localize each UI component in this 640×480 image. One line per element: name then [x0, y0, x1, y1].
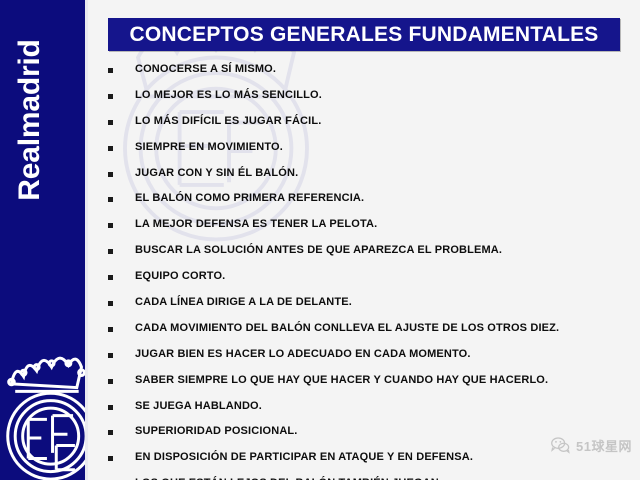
list-item-label: EQUIPO CORTO.: [135, 269, 628, 283]
square-bullet-icon: [108, 249, 113, 254]
sidebar-brand-label: Realmadrid: [2, 20, 58, 220]
list-item: CADA LÍNEA DIRIGE A LA DE DELANTE.: [108, 295, 628, 321]
list-item: LO MEJOR ES LO MÁS SENCILLO.: [108, 88, 628, 114]
list-item: EQUIPO CORTO.: [108, 269, 628, 295]
list-item-label: JUGAR CON Y SIN ÉL BALÓN.: [135, 166, 628, 180]
list-item: LO MÁS DIFÍCIL ES JUGAR FÁCIL.: [108, 114, 628, 140]
list-item-label: LO MEJOR ES LO MÁS SENCILLO.: [135, 88, 628, 102]
list-item-label: JUGAR BIEN ES HACER LO ADECUADO EN CADA …: [135, 347, 628, 361]
list-item: SE JUEGA HABLANDO.: [108, 399, 628, 425]
real-madrid-crest-icon: [4, 334, 85, 480]
sidebar: Realmadrid: [0, 0, 85, 480]
list-item: JUGAR CON Y SIN ÉL BALÓN.: [108, 166, 628, 192]
list-item: EL BALÓN COMO PRIMERA REFERENCIA.: [108, 191, 628, 217]
list-item-label: CADA MOVIMIENTO DEL BALÓN CONLLEVA EL AJ…: [135, 321, 628, 335]
square-bullet-icon: [108, 430, 113, 435]
list-item: EN DISPOSICIÓN DE PARTICIPAR EN ATAQUE Y…: [108, 450, 628, 476]
square-bullet-icon: [108, 223, 113, 228]
square-bullet-icon: [108, 301, 113, 306]
list-item: SABER SIEMPRE LO QUE HAY QUE HACER Y CUA…: [108, 373, 628, 399]
square-bullet-icon: [108, 197, 113, 202]
square-bullet-icon: [108, 405, 113, 410]
square-bullet-icon: [108, 68, 113, 73]
list-item-label: SE JUEGA HABLANDO.: [135, 399, 628, 413]
list-item: BUSCAR LA SOLUCIÓN ANTES DE QUE APAREZCA…: [108, 243, 628, 269]
list-item-label: SUPERIORIDAD POSICIONAL.: [135, 424, 628, 438]
slide-title-banner: CONCEPTOS GENERALES FUNDAMENTALES: [108, 18, 620, 51]
content-left-edge: [85, 0, 88, 480]
list-item: CONOCERSE A SÍ MISMO.: [108, 62, 628, 88]
list-item-label: EN DISPOSICIÓN DE PARTICIPAR EN ATAQUE Y…: [135, 450, 628, 464]
list-item-label: CONOCERSE A SÍ MISMO.: [135, 62, 628, 76]
list-item: SUPERIORIDAD POSICIONAL.: [108, 424, 628, 450]
list-item-label: EL BALÓN COMO PRIMERA REFERENCIA.: [135, 191, 628, 205]
list-item-label: CADA LÍNEA DIRIGE A LA DE DELANTE.: [135, 295, 628, 309]
square-bullet-icon: [108, 456, 113, 461]
page-title: CONCEPTOS GENERALES FUNDAMENTALES: [129, 24, 598, 45]
list-item-label: SIEMPRE EN MOVIMIENTO.: [135, 140, 628, 154]
square-bullet-icon: [108, 353, 113, 358]
square-bullet-icon: [108, 146, 113, 151]
slide-canvas: Realmadrid: [0, 0, 640, 480]
square-bullet-icon: [108, 379, 113, 384]
list-item-label: BUSCAR LA SOLUCIÓN ANTES DE QUE APAREZCA…: [135, 243, 628, 257]
list-item-label: SABER SIEMPRE LO QUE HAY QUE HACER Y CUA…: [135, 373, 628, 387]
square-bullet-icon: [108, 275, 113, 280]
bullet-list: CONOCERSE A SÍ MISMO. LO MEJOR ES LO MÁS…: [108, 62, 628, 480]
square-bullet-icon: [108, 327, 113, 332]
list-item: CADA MOVIMIENTO DEL BALÓN CONLLEVA EL AJ…: [108, 321, 628, 347]
list-item-label: LO MÁS DIFÍCIL ES JUGAR FÁCIL.: [135, 114, 628, 128]
list-item: SIEMPRE EN MOVIMIENTO.: [108, 140, 628, 166]
list-item-label: LOS QUE ESTÁN LEJOS DEL BALÓN TAMBIÉN JU…: [135, 476, 628, 480]
square-bullet-icon: [108, 94, 113, 99]
list-item-label: LA MEJOR DEFENSA ES TENER LA PELOTA.: [135, 217, 628, 231]
list-item: JUGAR BIEN ES HACER LO ADECUADO EN CADA …: [108, 347, 628, 373]
list-item: LA MEJOR DEFENSA ES TENER LA PELOTA.: [108, 217, 628, 243]
list-item: LOS QUE ESTÁN LEJOS DEL BALÓN TAMBIÉN JU…: [108, 476, 628, 480]
square-bullet-icon: [108, 172, 113, 177]
square-bullet-icon: [108, 120, 113, 125]
